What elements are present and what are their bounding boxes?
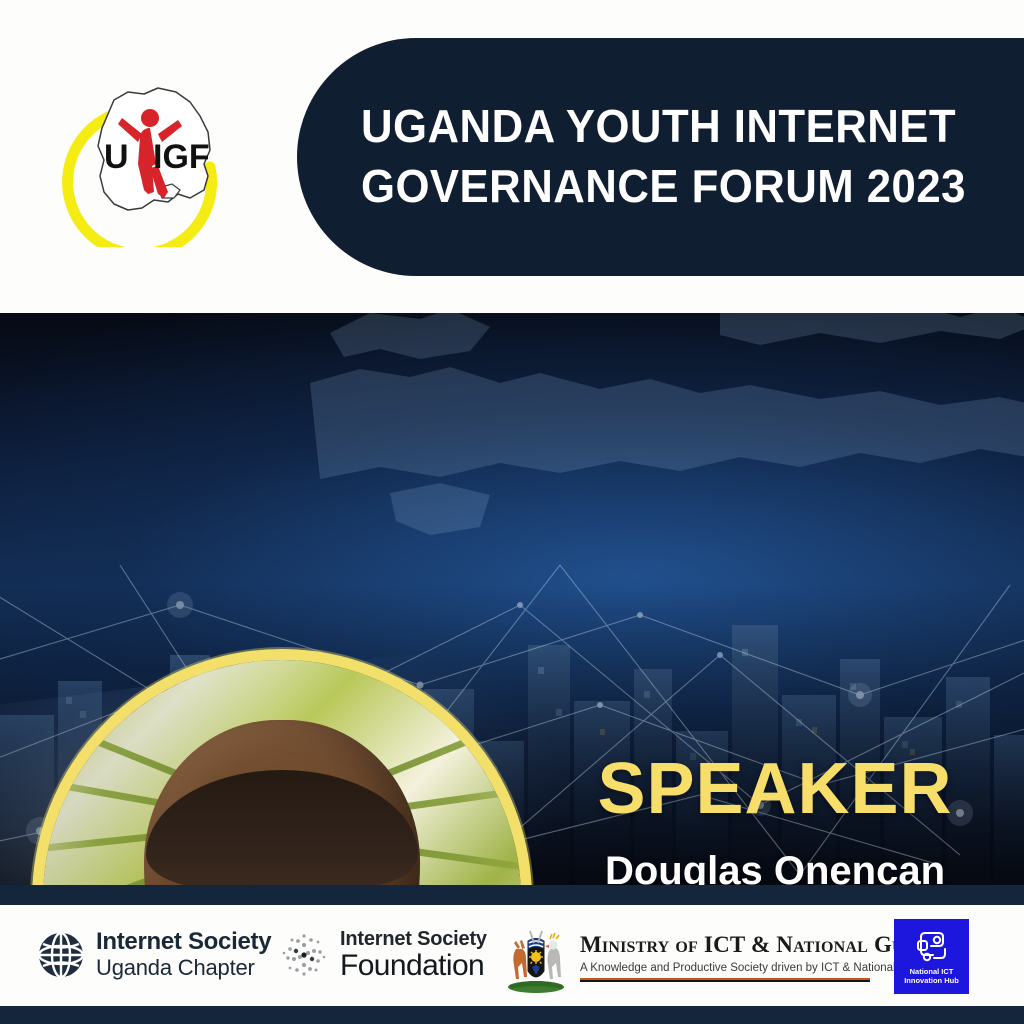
partner-line-1: Internet Society bbox=[96, 929, 271, 956]
uganda-coat-of-arms-icon bbox=[500, 919, 572, 995]
speaker-text-block: SPEAKER Douglas Onencan Software Enginee… bbox=[540, 753, 1010, 885]
speaker-name: Douglas Onencan bbox=[540, 849, 1010, 885]
partner-logo-internet-society-uganda: Internet Society Uganda Chapter bbox=[38, 929, 271, 981]
speaker-label: SPEAKER bbox=[540, 753, 1010, 825]
hub-line-2: Innovation Hub bbox=[904, 977, 959, 986]
divider-bar bbox=[0, 885, 1024, 905]
title-line-2: GOVERNANCE FORUM 2023 bbox=[361, 157, 1022, 217]
title-line-1: UGANDA YOUTH INTERNET bbox=[361, 97, 1022, 157]
bottom-bar bbox=[0, 1006, 1024, 1024]
header-zone: U IGF UGANDA YOUTH INTERNET GOVERNANCE F… bbox=[0, 0, 1024, 313]
speaker-poster: U IGF UGANDA YOUTH INTERNET GOVERNANCE F… bbox=[0, 0, 1024, 1024]
hero-section: SPEAKER Douglas Onencan Software Enginee… bbox=[0, 313, 1024, 885]
ict-hub-icon: National ICT Innovation Hub bbox=[894, 919, 969, 994]
partner-line-2: Uganda Chapter bbox=[96, 956, 271, 981]
ministry-rule bbox=[580, 978, 870, 982]
hair bbox=[146, 770, 418, 885]
dotted-circle-icon bbox=[280, 931, 328, 979]
face bbox=[144, 720, 420, 885]
footer-partners: Internet Society Uganda Chapter bbox=[0, 905, 1024, 1006]
speaker-portrait bbox=[32, 649, 532, 885]
partner-line-2: Foundation bbox=[340, 950, 487, 982]
svg-text:IGF: IGF bbox=[153, 138, 210, 176]
uyigf-logo: U IGF bbox=[58, 72, 248, 247]
svg-text:U: U bbox=[104, 138, 129, 176]
partner-logo-national-ict-innovation-hub: National ICT Innovation Hub bbox=[894, 919, 969, 994]
partner-line-1: Internet Society bbox=[340, 929, 487, 950]
partner-logo-internet-society-foundation: Internet Society Foundation bbox=[280, 929, 487, 982]
globe-icon bbox=[38, 932, 84, 978]
portrait-photo bbox=[43, 660, 521, 885]
title-banner: UGANDA YOUTH INTERNET GOVERNANCE FORUM 2… bbox=[297, 38, 1024, 276]
